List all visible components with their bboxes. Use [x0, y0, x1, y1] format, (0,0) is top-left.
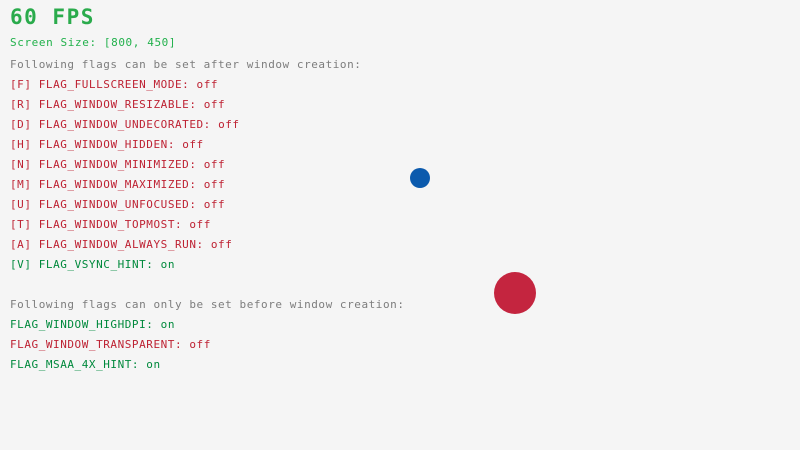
red-ball	[494, 272, 536, 314]
flag-state-value: off	[204, 198, 226, 211]
raylib-window-canvas[interactable]: 60 FPS Screen Size: [800, 450] Following…	[0, 0, 800, 450]
flag-shortcut-key: [R]	[10, 98, 32, 111]
flag-label: FLAG_WINDOW_TOPMOST:	[39, 218, 182, 231]
creation-flags-heading: Following flags can only be set before w…	[10, 299, 405, 311]
flag-label: FLAG_WINDOW_UNFOCUSED:	[39, 198, 197, 211]
flag-label: FLAG_FULLSCREEN_MODE:	[39, 78, 190, 91]
flag-label: FLAG_MSAA_4X_HINT:	[10, 358, 139, 371]
flag-state-value: on	[146, 358, 160, 371]
runtime-flags-heading: Following flags can be set after window …	[10, 59, 361, 71]
flag-state-value: off	[189, 218, 211, 231]
flag-state-value: on	[161, 258, 175, 271]
flag-label: FLAG_WINDOW_UNDECORATED:	[39, 118, 211, 131]
flag-row-flag-window-topmost[interactable]: [T] FLAG_WINDOW_TOPMOST: off	[10, 219, 211, 231]
flag-row-flag-vsync-hint[interactable]: [V] FLAG_VSYNC_HINT: on	[10, 259, 175, 271]
flag-shortcut-key: [A]	[10, 238, 32, 251]
flag-label: FLAG_WINDOW_ALWAYS_RUN:	[39, 238, 204, 251]
flag-shortcut-key: [M]	[10, 178, 32, 191]
flag-state-value: off	[189, 338, 211, 351]
flag-label: FLAG_VSYNC_HINT:	[39, 258, 154, 271]
screen-size-readout: Screen Size: [800, 450]	[10, 37, 176, 49]
flag-row-flag-window-highdpi: FLAG_WINDOW_HIGHDPI: on	[10, 319, 175, 331]
flag-label: FLAG_WINDOW_MINIMIZED:	[39, 158, 197, 171]
flag-row-flag-window-transparent: FLAG_WINDOW_TRANSPARENT: off	[10, 339, 211, 351]
flag-label: FLAG_WINDOW_HIDDEN:	[39, 138, 175, 151]
flag-state-value: off	[204, 158, 226, 171]
flag-shortcut-key: [D]	[10, 118, 32, 131]
flag-row-flag-window-maximized[interactable]: [M] FLAG_WINDOW_MAXIMIZED: off	[10, 179, 225, 191]
blue-ball	[410, 168, 430, 188]
flag-shortcut-key: [V]	[10, 258, 32, 271]
fps-counter: 60 FPS	[10, 6, 95, 28]
flag-row-flag-window-always-run[interactable]: [A] FLAG_WINDOW_ALWAYS_RUN: off	[10, 239, 232, 251]
flag-label: FLAG_WINDOW_TRANSPARENT:	[10, 338, 182, 351]
flag-row-flag-fullscreen-mode[interactable]: [F] FLAG_FULLSCREEN_MODE: off	[10, 79, 218, 91]
flag-row-flag-window-unfocused[interactable]: [U] FLAG_WINDOW_UNFOCUSED: off	[10, 199, 225, 211]
flag-label: FLAG_WINDOW_MAXIMIZED:	[39, 178, 197, 191]
flag-row-flag-window-minimized[interactable]: [N] FLAG_WINDOW_MINIMIZED: off	[10, 159, 225, 171]
flag-row-flag-window-resizable[interactable]: [R] FLAG_WINDOW_RESIZABLE: off	[10, 99, 225, 111]
flag-shortcut-key: [H]	[10, 138, 32, 151]
flag-state-value: off	[204, 98, 226, 111]
flag-label: FLAG_WINDOW_RESIZABLE:	[39, 98, 197, 111]
flag-shortcut-key: [N]	[10, 158, 32, 171]
flag-state-value: on	[161, 318, 175, 331]
flag-state-value: off	[197, 78, 219, 91]
flag-state-value: off	[211, 238, 233, 251]
flag-row-flag-window-undecorated[interactable]: [D] FLAG_WINDOW_UNDECORATED: off	[10, 119, 240, 131]
flag-label: FLAG_WINDOW_HIGHDPI:	[10, 318, 153, 331]
flag-shortcut-key: [T]	[10, 218, 32, 231]
flag-shortcut-key: [U]	[10, 198, 32, 211]
flag-shortcut-key: [F]	[10, 78, 32, 91]
flag-state-value: off	[182, 138, 204, 151]
flag-state-value: off	[204, 178, 226, 191]
flag-row-flag-msaa-4x-hint: FLAG_MSAA_4X_HINT: on	[10, 359, 161, 371]
flag-state-value: off	[218, 118, 240, 131]
flag-row-flag-window-hidden[interactable]: [H] FLAG_WINDOW_HIDDEN: off	[10, 139, 204, 151]
